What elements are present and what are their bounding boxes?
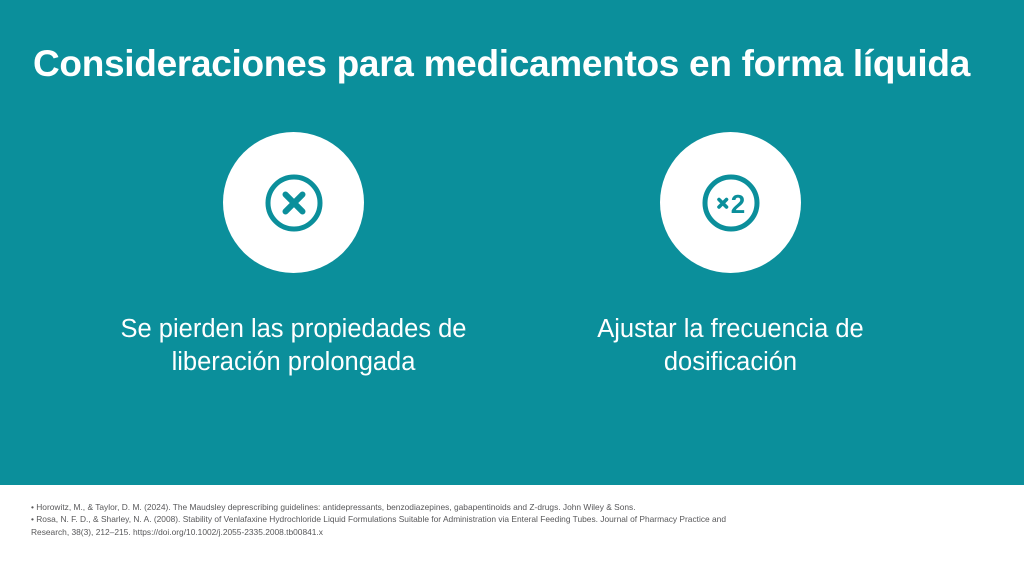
svg-text:2: 2 <box>730 189 744 219</box>
caption-line-2: liberación prolongada <box>172 348 416 376</box>
content-column-2: 2 Ajustar la frecuencia de dosificación <box>512 132 949 422</box>
reference-item-2: • Rosa, N. F. D., & Sharley, N. A. (2008… <box>31 513 743 538</box>
circle-times-two-icon: 2 <box>700 172 762 234</box>
page-title: Consideraciones para medicamentos en for… <box>33 41 993 87</box>
icon-circle-2: 2 <box>660 132 801 273</box>
caption-line-1: Se pierden las propiedades de <box>121 315 467 343</box>
slide-footer: • Horowitz, M., & Taylor, D. M. (2024). … <box>0 485 1024 576</box>
column-caption-2: Ajustar la frecuencia de dosificación <box>521 313 941 379</box>
column-caption-1: Se pierden las propiedades de liberación… <box>84 313 504 379</box>
caption-line-2: dosificación <box>664 348 797 376</box>
content-column-1: Se pierden las propiedades de liberación… <box>75 132 512 422</box>
caption-line-1: Ajustar la frecuencia de <box>597 315 863 343</box>
icon-circle-1 <box>223 132 364 273</box>
reference-item-1: • Horowitz, M., & Taylor, D. M. (2024). … <box>31 501 743 513</box>
circle-x-icon <box>263 172 325 234</box>
content-columns: Se pierden las propiedades de liberación… <box>0 132 1024 422</box>
slide-canvas: Consideraciones para medicamentos en for… <box>0 0 1024 576</box>
references-list: • Horowitz, M., & Taylor, D. M. (2024). … <box>31 501 743 538</box>
